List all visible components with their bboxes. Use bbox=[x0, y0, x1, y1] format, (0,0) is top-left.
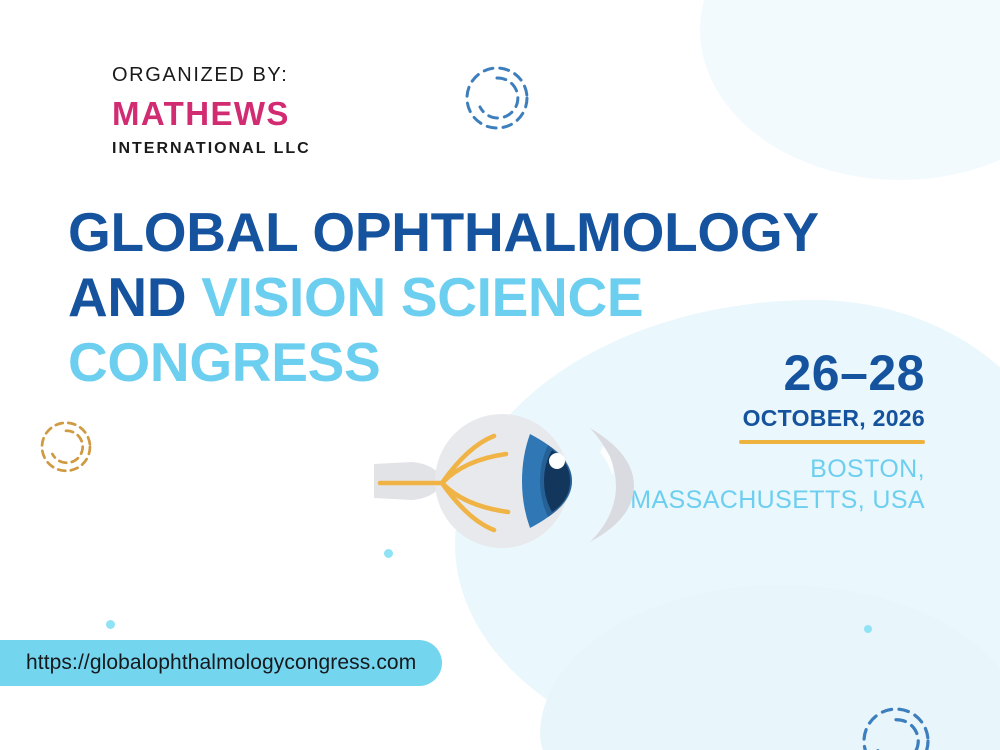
website-url-text: https://globalophthalmologycongress.com bbox=[26, 651, 416, 675]
website-url-pill[interactable]: https://globalophthalmologycongress.com bbox=[0, 640, 442, 686]
eye-anatomy-illustration bbox=[372, 398, 662, 583]
iris-highlight bbox=[549, 453, 565, 469]
spiral-top-center-icon bbox=[452, 52, 542, 147]
event-title-line-1: GLOBAL OPHTHALMOLOGY bbox=[68, 200, 858, 265]
date-divider-rule bbox=[739, 440, 925, 444]
event-days: 26–28 bbox=[600, 348, 925, 398]
event-title-and: AND bbox=[68, 266, 201, 328]
event-title-line-2: AND VISION SCIENCE bbox=[68, 265, 858, 330]
dot-near-eye-icon bbox=[384, 549, 393, 558]
spiral-bottom-right-icon bbox=[848, 692, 944, 750]
dot-above-url-icon bbox=[106, 620, 115, 629]
dot-right-lower-icon bbox=[864, 625, 872, 633]
spiral-left-middle-icon bbox=[30, 410, 102, 487]
cornea-shape bbox=[590, 428, 634, 542]
conference-banner: ORGANIZED BY: MATHEWS INTERNATIONAL LLC … bbox=[0, 0, 1000, 750]
background-blob-top-right bbox=[700, 0, 1000, 180]
event-title-vision-science: VISION SCIENCE bbox=[201, 266, 643, 328]
